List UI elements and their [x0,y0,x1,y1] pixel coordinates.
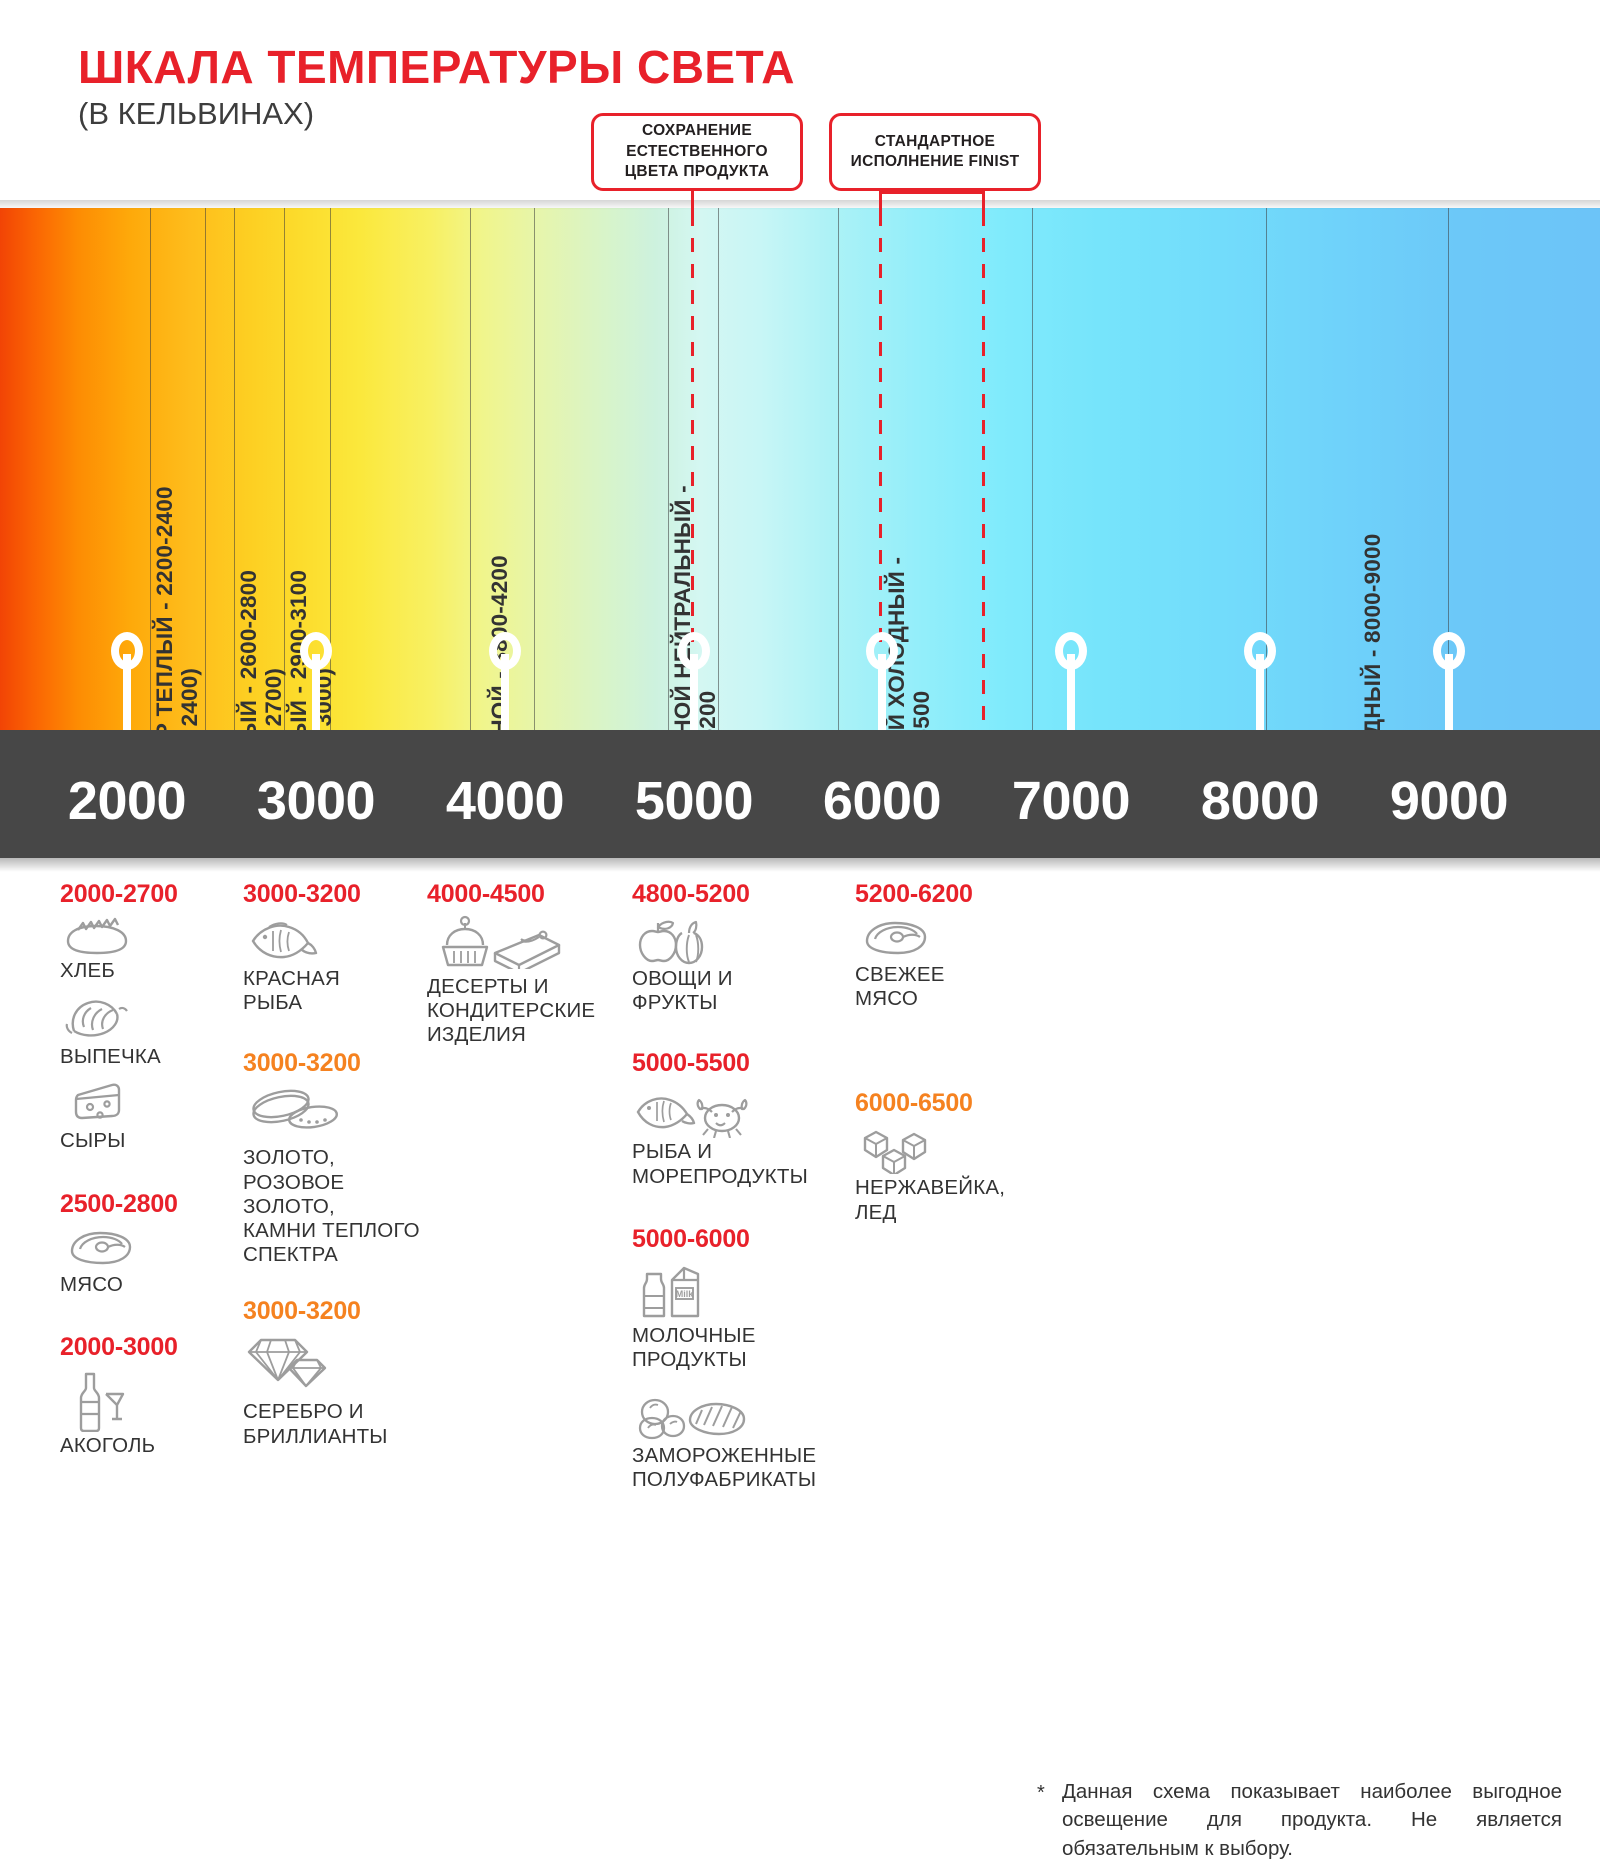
band-label-line2: (тип К 2400) [177,486,202,730]
legend-item-pastry: ВЫПЕЧКА [60,991,230,1069]
callout-1-leader [691,191,694,218]
tick-label-3000: 3000 [257,770,375,832]
footnote-marker: * [1037,1780,1045,1808]
legend-column-3: 4000-4500 ДЕСЕРТЫ ИКОНДИТЕРСКИЕИЗДЕЛИЯ [427,880,627,1066]
cupcake-cake-icon [427,915,607,969]
tick-marker-stem [878,654,886,730]
legend-item-label: ДЕСЕРТЫ ИКОНДИТЕРСКИЕИЗДЕЛИЯ [427,975,627,1048]
legend-range: 5000-5500 [632,1049,847,1078]
frozen-food-icon [632,1390,752,1442]
legend-item-label: СЕРЕБРО ИБРИЛЛИАНТЫ [243,1400,438,1448]
band-divider [234,208,235,730]
legend-range: 3000-3200 [243,880,438,909]
legend-range: 6000-6500 [855,1089,1030,1118]
band-divider [150,208,151,730]
legend-group: 3000-3200 СЕРЕБРО ИБРИЛЛИАНТЫ [243,1297,438,1448]
callout-1-text: СОХРАНЕНИЕ ЕСТЕСТВЕННОГО ЦВЕТА ПРОДУКТА [604,121,790,182]
tick-label-7000: 7000 [1012,770,1130,832]
band-label-line2: 5800-6500 [909,557,934,730]
product-legend: 2000-2700 ХЛЕБ ВЫПЕЧКА [0,880,1600,1600]
legend-range: 4800-5200 [632,880,847,909]
legend-group: 2000-3000 АКОГОЛЬ [60,1333,230,1458]
legend-item-label: НЕРЖАВЕЙКА,ЛЕД [855,1176,1030,1224]
legend-item-label: СВЕЖЕЕМЯСО [855,963,1030,1011]
legend-item-frozen: ЗАМОРОЖЕННЫЕПОЛУФАБРИКАТЫ [632,1390,847,1492]
band-divider [470,208,471,730]
legend-item-alcohol: АКОГОЛЬ [60,1368,230,1458]
tick-label-6000: 6000 [823,770,941,832]
legend-item-bread: ХЛЕБ [60,915,230,983]
dashed-line-finist-end [982,200,985,730]
fresh-meat-icon [855,915,935,961]
kelvin-gradient-strip: СУПЕР ТЕПЛЫЙ - 2200-2400 (тип К 2400) ТЕ… [0,200,1600,730]
band-divider [838,208,839,730]
band-label-line2: 4800-5200 [695,485,720,730]
band-label-super-warm: СУПЕР ТЕПЛЫЙ - 2200-2400 (тип К 2400) [152,486,202,730]
legend-item-label: МОЛОЧНЫЕ ПРОДУКТЫ [632,1324,847,1372]
legend-item-label: ВЫПЕЧКА [60,1045,230,1069]
footnote-text: Данная схема показывает наиболее выгодно… [1062,1780,1562,1860]
fish-crab-icon [632,1084,756,1138]
band-divider [205,208,206,730]
legend-item-label: АКОГОЛЬ [60,1434,230,1458]
legend-item-desserts: ДЕСЕРТЫ ИКОНДИТЕРСКИЕИЗДЕЛИЯ [427,915,627,1048]
legend-item-label: ЗАМОРОЖЕННЫЕПОЛУФАБРИКАТЫ [632,1444,847,1492]
legend-group: 5000-6000 Milk МОЛОЧНЫЕ ПРОДУКТЫ [632,1225,847,1493]
legend-group: 5000-5500 РЫБА ИМОРЕПРОДУКТЫ [632,1049,847,1188]
tick-marker-stem [312,654,320,730]
band-divider [1032,208,1033,730]
legend-item-fresh-meat: СВЕЖЕЕМЯСО [855,915,1030,1011]
tick-marker-stem [1256,654,1264,730]
legend-item-silver-diamonds: СЕРЕБРО ИБРИЛЛИАНТЫ [243,1332,438,1448]
legend-item-dairy: Milk МОЛОЧНЫЕ ПРОДУКТЫ [632,1260,847,1372]
legend-range: 5200-6200 [855,880,1030,909]
legend-column-5: 5200-6200 СВЕЖЕЕМЯСО 6000-6500 [855,880,1030,1243]
band-label-line2: (тип К 2700) [261,570,286,730]
callout-finist-standard: СТАНДАРТНОЕ ИСПОЛНЕНИЕ FINIST [829,113,1041,191]
scale-number-band [0,730,1600,858]
cheese-icon [60,1077,134,1127]
tick-label-5000: 5000 [635,770,753,832]
legend-range: 2000-3000 [60,1333,230,1362]
legend-range: 4000-4500 [427,880,627,909]
legend-item-red-fish: КРАСНАЯРЫБА [243,915,438,1015]
legend-column-1: 2000-2700 ХЛЕБ ВЫПЕЧКА [60,880,230,1476]
tick-marker-stem [1445,654,1453,730]
callout-2-leader-b [982,191,985,218]
legend-item-label: СЫРЫ [60,1129,230,1153]
legend-column-4: 4800-5200 ОВОЩИ ИФРУКТЫ 5000-5500 [632,880,847,1511]
legend-range: 2500-2800 [60,1190,230,1219]
callout-natural-color-preservation: СОХРАНЕНИЕ ЕСТЕСТВЕННОГО ЦВЕТА ПРОДУКТА [591,113,803,191]
croissant-icon [60,991,134,1043]
legend-item-label: РЫБА ИМОРЕПРОДУКТЫ [632,1140,847,1188]
steak-icon [60,1225,140,1271]
legend-item-label: КРАСНАЯРЫБА [243,967,438,1015]
legend-item-cheese: СЫРЫ [60,1077,230,1153]
legend-item-label: ОВОЩИ ИФРУКТЫ [632,967,847,1015]
legend-range: 2000-2700 [60,880,230,909]
legend-group: 6000-6500 НЕРЖАВЕЙКА,ЛЕД [855,1089,1030,1224]
legend-group: 4800-5200 ОВОЩИ ИФРУКТЫ [632,880,847,1015]
rings-icon [243,1084,347,1136]
legend-group: 2000-2700 ХЛЕБ ВЫПЕЧКА [60,880,230,1154]
legend-group: 2500-2800 МЯСО [60,1190,230,1297]
tick-label-2000: 2000 [68,770,186,832]
callout-2-text: СТАНДАРТНОЕ ИСПОЛНЕНИЕ FINIST [842,132,1028,173]
legend-range: 3000-3200 [243,1297,438,1326]
milk-carton-icon: Milk [632,1260,740,1322]
tick-label-9000: 9000 [1390,770,1508,832]
tick-marker-stem [1067,654,1075,730]
legend-group: 3000-3200 КРАСНАЯРЫБА [243,880,438,1015]
bread-icon [60,915,134,957]
legend-group: 3000-3200 ЗОЛОТО,РОЗОВОЕ ЗОЛОТО,КАМНИ ТЕ… [243,1049,438,1267]
band-label-line1: СУПЕР ТЕПЛЫЙ - 2200-2400 [152,486,177,730]
legend-item-label: МЯСО [60,1273,230,1297]
scale-band-shadow [0,858,1600,872]
page-title: ШКАЛА ТЕМПЕРАТУРЫ СВЕТА [78,40,795,94]
legend-range: 5000-6000 [632,1225,847,1254]
callout-2-leader-bar [879,191,985,194]
tick-marker-stem [123,654,131,730]
legend-item-stainless-ice: НЕРЖАВЕЙКА,ЛЕД [855,1124,1030,1224]
fish-icon [243,915,321,965]
legend-item-label: ХЛЕБ [60,959,230,983]
callout-2-leader-a [879,191,882,218]
tick-marker-stem [501,654,509,730]
legend-item-gold: ЗОЛОТО,РОЗОВОЕ ЗОЛОТО,КАМНИ ТЕПЛОГОСПЕКТ… [243,1084,438,1267]
band-label-warm-2700: ТЕПЛЫЙ - 2600-2800 (тип К 2700) [236,570,286,730]
page-subtitle: (В КЕЛЬВИНАХ) [78,96,314,132]
legend-item-vegetables-fruits: ОВОЩИ ИФРУКТЫ [632,915,847,1015]
band-label-line1: ХОЛОДНЫЙ - 8000-9000 [1360,534,1386,730]
strip-top-shadow [0,200,1600,210]
legend-group: 4000-4500 ДЕСЕРТЫ ИКОНДИТЕРСКИЕИЗДЕЛИЯ [427,880,627,1048]
band-divider [534,208,535,730]
band-label-line1: ТЕПЛЫЙ - 2600-2800 [236,570,261,730]
legend-range: 3000-3200 [243,1049,438,1078]
apple-pepper-icon [632,915,724,965]
footnote: * Данная схема показывает наиболее выгод… [1062,1778,1562,1863]
tick-marker-stem [690,654,698,730]
band-divider [668,208,669,730]
legend-group: 5200-6200 СВЕЖЕЕМЯСО [855,880,1030,1011]
diamond-icon [243,1332,333,1392]
svg-text:Milk: Milk [676,1289,694,1299]
tick-label-8000: 8000 [1201,770,1319,832]
legend-column-2: 3000-3200 КРАСНАЯРЫБА 3000-3200 [243,880,438,1467]
ice-cubes-icon [855,1124,941,1174]
legend-item-label: ЗОЛОТО,РОЗОВОЕ ЗОЛОТО,КАМНИ ТЕПЛОГОСПЕКТ… [243,1146,438,1267]
legend-item-fish-seafood: РЫБА ИМОРЕПРОДУКТЫ [632,1084,847,1188]
bottle-glass-icon [60,1368,134,1432]
legend-item-meat: МЯСО [60,1225,230,1297]
band-label-cold: ХОЛОДНЫЙ - 8000-9000 [1360,534,1386,730]
tick-label-4000: 4000 [446,770,564,832]
